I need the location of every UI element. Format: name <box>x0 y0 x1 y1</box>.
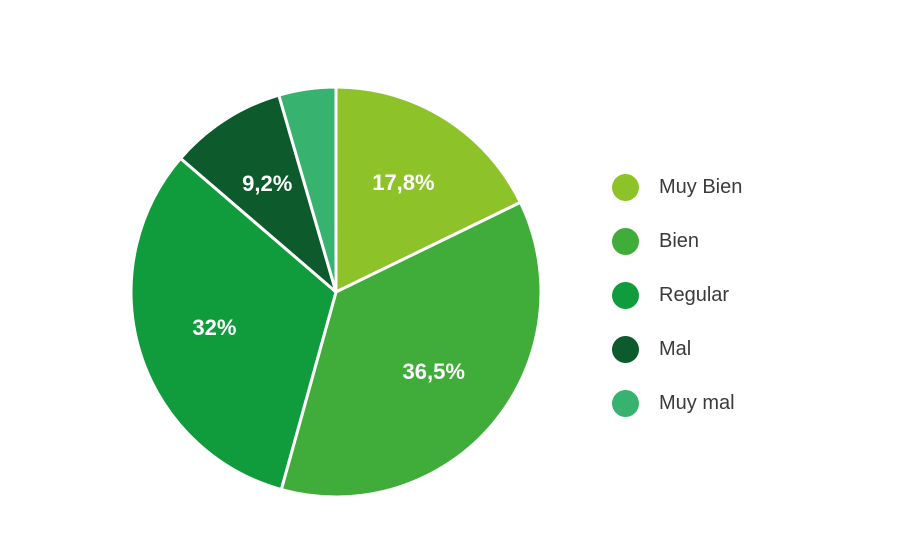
chart-legend: Muy BienBienRegularMalMuy mal <box>612 160 882 430</box>
pie-slices-group <box>131 87 541 497</box>
legend-swatch-icon <box>612 390 639 417</box>
legend-item-muy-mal[interactable]: Muy mal <box>612 376 882 430</box>
pie-slice-label-muy-bien: 17,8% <box>372 170 434 195</box>
legend-item-bien[interactable]: Bien <box>612 214 882 268</box>
legend-swatch-icon <box>612 174 639 201</box>
pie-chart-svg: 17,8%36,5%32%9,2% <box>0 0 600 550</box>
legend-item-label: Muy mal <box>659 393 735 413</box>
legend-swatch-icon <box>612 228 639 255</box>
pie-slice-label-regular: 32% <box>192 315 236 340</box>
pie-chart-figure: 17,8%36,5%32%9,2% Muy BienBienRegularMal… <box>0 0 900 550</box>
legend-item-mal[interactable]: Mal <box>612 322 882 376</box>
pie-slice-label-mal: 9,2% <box>242 171 292 196</box>
pie-slice-label-bien: 36,5% <box>403 359 465 384</box>
legend-item-muy-bien[interactable]: Muy Bien <box>612 160 882 214</box>
legend-item-label: Regular <box>659 285 729 305</box>
legend-swatch-icon <box>612 282 639 309</box>
legend-swatch-icon <box>612 336 639 363</box>
legend-item-label: Mal <box>659 339 691 359</box>
legend-item-label: Muy Bien <box>659 177 742 197</box>
pie-chart-plot-area: 17,8%36,5%32%9,2% <box>0 0 600 550</box>
legend-item-regular[interactable]: Regular <box>612 268 882 322</box>
legend-item-label: Bien <box>659 231 699 251</box>
